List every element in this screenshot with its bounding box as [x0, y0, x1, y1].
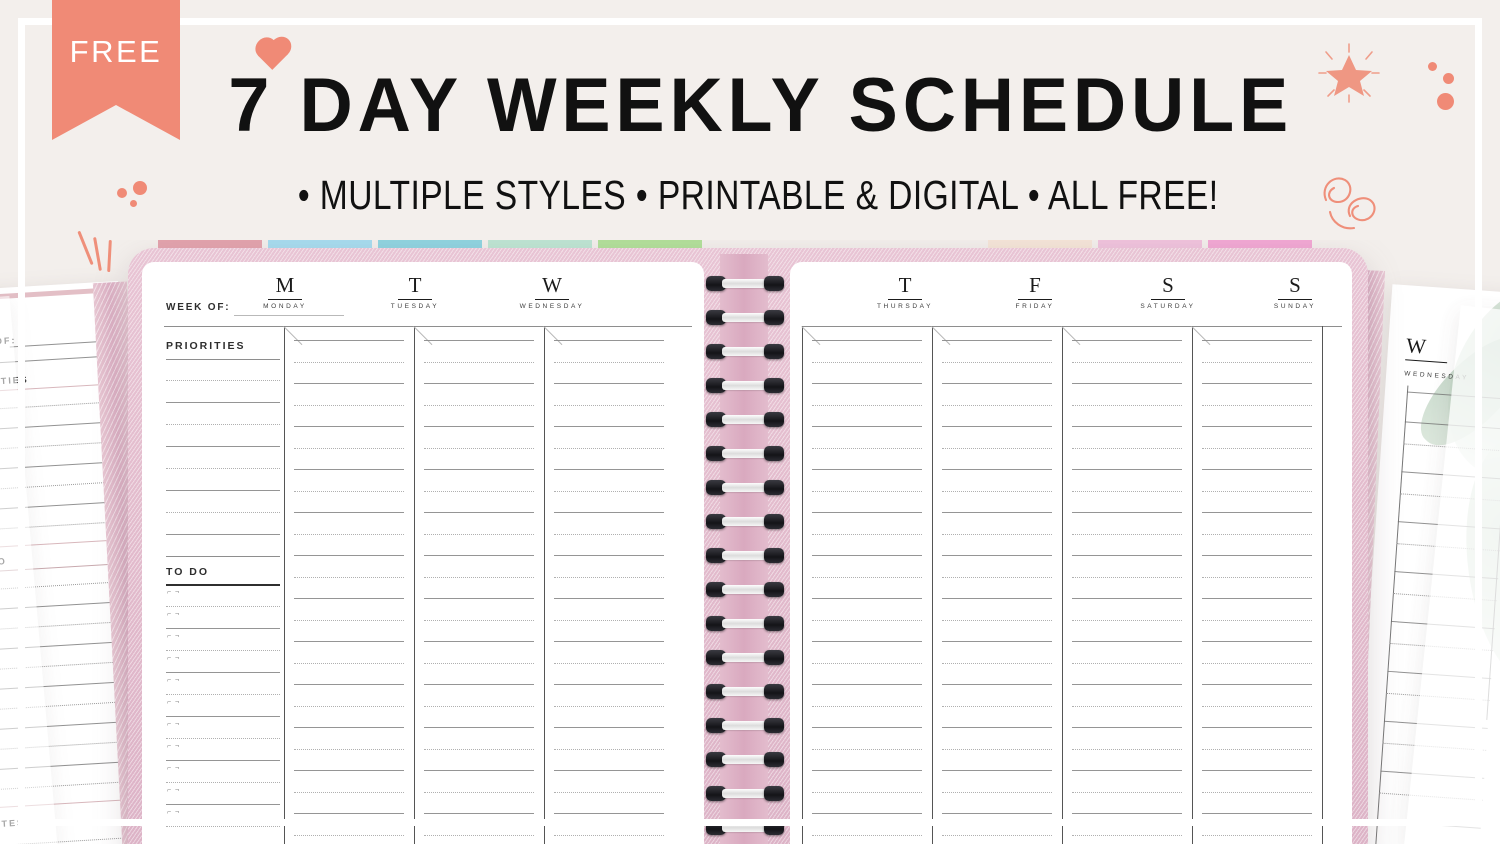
monday-line[interactable]	[294, 663, 404, 664]
tuesday-line[interactable]	[424, 663, 534, 664]
wednesday-line[interactable]	[554, 835, 664, 836]
monday-line[interactable]	[294, 555, 404, 556]
priorities-line[interactable]	[166, 380, 280, 381]
spiral-coil	[706, 514, 784, 529]
monday-line[interactable]	[294, 792, 404, 793]
tuesday-line[interactable]	[424, 340, 534, 341]
todo-line[interactable]	[166, 694, 280, 695]
tuesday-line[interactable]	[424, 362, 534, 363]
spiral-coil	[706, 378, 784, 393]
todo-line[interactable]	[166, 716, 280, 717]
tuesday-line[interactable]	[424, 491, 534, 492]
friday-line[interactable]	[942, 620, 1052, 621]
sunday-line[interactable]	[1202, 362, 1312, 363]
column-divider-2	[414, 326, 415, 844]
day-initial-monday: M	[242, 275, 328, 296]
wednesday-line[interactable]	[554, 426, 664, 427]
day-name-friday: FRIDAY	[992, 303, 1078, 310]
planner-page-right: T THURSDAY F FRIDAY S SATURDAY S SUNDAY	[790, 262, 1352, 844]
column-divider-4	[802, 326, 803, 844]
todo-checkbox[interactable]: ⌐ ¬	[167, 655, 180, 662]
free-badge-label: FREE	[70, 34, 163, 70]
saturday-line[interactable]	[1072, 835, 1182, 836]
todo-checkbox[interactable]: ⌐ ¬	[167, 611, 180, 618]
thursday-line[interactable]	[812, 792, 922, 793]
friday-line[interactable]	[942, 706, 1052, 707]
spiral-coil	[706, 480, 784, 495]
planner-book: WEEK OF: M MONDAY T TUESDAY W WEDNESDAY	[128, 248, 1368, 844]
todo-checkbox[interactable]: ⌐ ¬	[167, 633, 180, 640]
corner-fold-6	[1044, 326, 1081, 363]
saturday-line[interactable]	[1072, 405, 1182, 406]
sunday-line[interactable]	[1202, 641, 1312, 642]
thursday-line[interactable]	[812, 469, 922, 470]
corner-fold-2	[396, 326, 433, 363]
monday-line[interactable]	[294, 448, 404, 449]
tuesday-line[interactable]	[424, 383, 534, 384]
wednesday-line[interactable]	[554, 491, 664, 492]
day-initial-friday: F	[992, 275, 1078, 296]
tuesday-line[interactable]	[424, 512, 534, 513]
friday-line[interactable]	[942, 512, 1052, 513]
friday-line[interactable]	[942, 727, 1052, 728]
wednesday-line[interactable]	[554, 469, 664, 470]
tuesday-line[interactable]	[424, 405, 534, 406]
day-header-sunday: S SUNDAY	[1252, 275, 1338, 310]
monday-line[interactable]	[294, 405, 404, 406]
tuesday-line[interactable]	[424, 426, 534, 427]
spiral-coil	[706, 820, 784, 835]
todo-underline	[166, 584, 280, 586]
saturday-line[interactable]	[1072, 792, 1182, 793]
corner-fold-7	[1174, 326, 1211, 363]
tuesday-line[interactable]	[424, 448, 534, 449]
sunday-line[interactable]	[1202, 426, 1312, 427]
column-divider-7	[1192, 326, 1193, 844]
wednesday-line[interactable]	[554, 770, 664, 771]
tuesday-line[interactable]	[424, 577, 534, 578]
tuesday-line[interactable]	[424, 684, 534, 685]
column-divider-3	[544, 326, 545, 844]
day-initial-sunday: S	[1252, 275, 1338, 296]
todo-checkbox[interactable]: ⌐ ¬	[167, 809, 180, 816]
bg-right-day-initial: W	[1405, 333, 1426, 358]
sunday-line[interactable]	[1202, 340, 1312, 341]
corner-fold-4	[790, 326, 820, 363]
tuesday-line[interactable]	[424, 792, 534, 793]
wednesday-line[interactable]	[554, 684, 664, 685]
monday-line[interactable]	[294, 512, 404, 513]
saturday-line[interactable]	[1072, 770, 1182, 771]
todo-checkbox[interactable]: ⌐ ¬	[167, 787, 180, 794]
dash-line-2	[93, 237, 101, 271]
day-header-saturday: S SATURDAY	[1122, 275, 1214, 310]
spiral-coil	[706, 752, 784, 767]
saturday-line[interactable]	[1072, 426, 1182, 427]
friday-line[interactable]	[942, 749, 1052, 750]
sunday-line[interactable]	[1202, 706, 1312, 707]
spiral-coil	[706, 412, 784, 427]
sunday-line[interactable]	[1202, 749, 1312, 750]
corner-fold-5	[914, 326, 951, 363]
friday-line[interactable]	[942, 534, 1052, 535]
todo-line[interactable]	[166, 672, 280, 673]
spiral-coil	[706, 718, 784, 733]
monday-line[interactable]	[294, 469, 404, 470]
day-name-monday: MONDAY	[242, 303, 328, 310]
monday-line[interactable]	[294, 727, 404, 728]
wednesday-line[interactable]	[554, 362, 664, 363]
day-header-wednesday: W WEDNESDAY	[502, 275, 602, 310]
saturday-line[interactable]	[1072, 555, 1182, 556]
monday-line[interactable]	[294, 577, 404, 578]
todo-line[interactable]	[166, 782, 280, 783]
friday-line[interactable]	[942, 383, 1052, 384]
day-name-sunday: SUNDAY	[1252, 303, 1338, 310]
sunday-line[interactable]	[1202, 620, 1312, 621]
todo-line[interactable]	[166, 606, 280, 607]
day-initial-tuesday: T	[372, 275, 458, 296]
sunday-line[interactable]	[1202, 792, 1312, 793]
tuesday-line[interactable]	[424, 641, 534, 642]
dot-large-right	[1437, 93, 1454, 110]
monday-line[interactable]	[294, 362, 404, 363]
saturday-line[interactable]	[1072, 641, 1182, 642]
sunday-line[interactable]	[1202, 770, 1312, 771]
sunday-line[interactable]	[1202, 405, 1312, 406]
sunday-line[interactable]	[1202, 727, 1312, 728]
tuesday-line[interactable]	[424, 534, 534, 535]
day-initial-thursday: T	[862, 275, 948, 296]
corner-fold-3	[526, 326, 563, 363]
tuesday-line[interactable]	[424, 469, 534, 470]
todo-line[interactable]	[166, 826, 280, 827]
saturday-line[interactable]	[1072, 577, 1182, 578]
day-name-wednesday: WEDNESDAY	[502, 303, 602, 310]
priorities-line[interactable]	[166, 468, 280, 469]
monday-line[interactable]	[294, 491, 404, 492]
monday-line[interactable]	[294, 598, 404, 599]
column-divider-1	[284, 326, 285, 844]
thursday-line[interactable]	[812, 749, 922, 750]
dot-small-right	[1428, 62, 1437, 71]
saturday-line[interactable]	[1072, 534, 1182, 535]
friday-line[interactable]	[942, 448, 1052, 449]
priorities-underline	[166, 359, 280, 360]
saturday-line[interactable]	[1072, 383, 1182, 384]
monday-line[interactable]	[294, 620, 404, 621]
poster-canvas: WEEK OF: PRIORITIES TO DO NOTES	[0, 0, 1500, 844]
dash-line-1	[77, 231, 93, 265]
todo-line[interactable]	[166, 650, 280, 651]
day-initial-saturday: S	[1122, 275, 1214, 296]
monday-line[interactable]	[294, 383, 404, 384]
spiral-coil	[706, 276, 784, 291]
monday-line[interactable]	[294, 770, 404, 771]
saturday-line[interactable]	[1072, 620, 1182, 621]
poster-header: 7 DAY WEEKLY SCHEDULE • MULTIPLE STYLES …	[0, 0, 1500, 240]
saturday-line[interactable]	[1072, 448, 1182, 449]
day-initial-wednesday: W	[502, 275, 602, 296]
tuesday-line[interactable]	[424, 835, 534, 836]
todo-checkbox[interactable]: ⌐ ¬	[167, 699, 180, 706]
wednesday-line[interactable]	[554, 727, 664, 728]
spiral-coil	[706, 582, 784, 597]
saturday-line[interactable]	[1072, 362, 1182, 363]
day-name-saturday: SATURDAY	[1122, 303, 1214, 310]
todo-line[interactable]	[166, 628, 280, 629]
thursday-line[interactable]	[812, 534, 922, 535]
friday-line[interactable]	[942, 835, 1052, 836]
column-divider-8	[1322, 326, 1323, 844]
friday-line[interactable]	[942, 405, 1052, 406]
priorities-line[interactable]	[166, 490, 280, 491]
thursday-line[interactable]	[812, 491, 922, 492]
priorities-line[interactable]	[166, 402, 280, 403]
priorities-label: PRIORITIES	[166, 340, 246, 352]
friday-line[interactable]	[942, 362, 1052, 363]
header-divider-right	[802, 326, 1342, 327]
todo-checkbox[interactable]: ⌐ ¬	[167, 743, 180, 750]
thursday-line[interactable]	[812, 684, 922, 685]
wednesday-line[interactable]	[554, 706, 664, 707]
thursday-line[interactable]	[812, 512, 922, 513]
sunday-line[interactable]	[1202, 663, 1312, 664]
priorities-line[interactable]	[166, 446, 280, 447]
saturday-line[interactable]	[1072, 663, 1182, 664]
monday-line[interactable]	[294, 534, 404, 535]
saturday-line[interactable]	[1072, 813, 1182, 814]
day-header-tuesday: T TUESDAY	[372, 275, 458, 310]
corner-fold-1	[266, 326, 303, 363]
tuesday-line[interactable]	[424, 770, 534, 771]
spiral-coil	[706, 616, 784, 631]
tuesday-line[interactable]	[424, 620, 534, 621]
column-divider-6	[1062, 326, 1063, 844]
monday-line[interactable]	[294, 340, 404, 341]
page-subtitle: • MULTIPLE STYLES • PRINTABLE & DIGITAL …	[135, 172, 1365, 219]
sunday-line[interactable]	[1202, 684, 1312, 685]
tuesday-line[interactable]	[424, 727, 534, 728]
page-title: 7 DAY WEEKLY SCHEDULE	[23, 62, 1478, 149]
sunday-line[interactable]	[1202, 534, 1312, 535]
day-name-tuesday: TUESDAY	[372, 303, 458, 310]
thursday-line[interactable]	[812, 641, 922, 642]
spiral-coil	[706, 548, 784, 563]
wednesday-line[interactable]	[554, 792, 664, 793]
wednesday-line[interactable]	[554, 813, 664, 814]
priorities-line[interactable]	[166, 534, 280, 535]
friday-line[interactable]	[942, 792, 1052, 793]
sunday-line[interactable]	[1202, 491, 1312, 492]
priorities-line[interactable]	[166, 424, 280, 425]
friday-line[interactable]	[942, 641, 1052, 642]
saturday-line[interactable]	[1072, 340, 1182, 341]
wednesday-line[interactable]	[554, 405, 664, 406]
spiral-coil	[706, 310, 784, 325]
thursday-line[interactable]	[812, 577, 922, 578]
week-of-input-line[interactable]	[234, 315, 344, 316]
friday-line[interactable]	[942, 684, 1052, 685]
todo-line[interactable]	[166, 760, 280, 761]
wednesday-line[interactable]	[554, 534, 664, 535]
todo-checkbox[interactable]: ⌐ ¬	[167, 677, 180, 684]
column-divider-5	[932, 326, 933, 844]
wednesday-line[interactable]	[554, 577, 664, 578]
monday-line[interactable]	[294, 706, 404, 707]
spiral-coil	[706, 344, 784, 359]
dot-small-left	[117, 188, 127, 198]
wednesday-line[interactable]	[554, 340, 664, 341]
tuesday-line[interactable]	[424, 749, 534, 750]
dash-line-3	[107, 240, 111, 272]
wednesday-line[interactable]	[554, 663, 664, 664]
saturday-line[interactable]	[1072, 684, 1182, 685]
thursday-line[interactable]	[812, 727, 922, 728]
monday-line[interactable]	[294, 684, 404, 685]
sunday-line[interactable]	[1202, 469, 1312, 470]
dot-mid-right	[1443, 73, 1454, 84]
sunday-line[interactable]	[1202, 512, 1312, 513]
friday-line[interactable]	[942, 555, 1052, 556]
todo-line[interactable]	[166, 804, 280, 805]
saturday-line[interactable]	[1072, 749, 1182, 750]
planner-page-left: WEEK OF: M MONDAY T TUESDAY W WEDNESDAY	[142, 262, 704, 844]
friday-line[interactable]	[942, 340, 1052, 341]
todo-checkbox[interactable]: ⌐ ¬	[167, 765, 180, 772]
thursday-line[interactable]	[812, 770, 922, 771]
header-divider-left	[164, 326, 692, 327]
monday-line[interactable]	[294, 835, 404, 836]
wednesday-line[interactable]	[554, 448, 664, 449]
day-name-thursday: THURSDAY	[862, 303, 948, 310]
thursday-line[interactable]	[812, 813, 922, 814]
thursday-line[interactable]	[812, 706, 922, 707]
saturday-line[interactable]	[1072, 512, 1182, 513]
sunday-line[interactable]	[1202, 835, 1312, 836]
sunday-line[interactable]	[1202, 813, 1312, 814]
thursday-line[interactable]	[812, 835, 922, 836]
friday-line[interactable]	[942, 491, 1052, 492]
thursday-line[interactable]	[812, 362, 922, 363]
tuesday-line[interactable]	[424, 813, 534, 814]
todo-top-rule	[166, 556, 280, 557]
thursday-line[interactable]	[812, 620, 922, 621]
todo-checkbox[interactable]: ⌐ ¬	[167, 589, 180, 596]
monday-line[interactable]	[294, 813, 404, 814]
day-header-thursday: T THURSDAY	[862, 275, 948, 310]
thursday-line[interactable]	[812, 426, 922, 427]
friday-line[interactable]	[942, 577, 1052, 578]
thursday-line[interactable]	[812, 663, 922, 664]
tuesday-line[interactable]	[424, 706, 534, 707]
sunday-line[interactable]	[1202, 598, 1312, 599]
friday-line[interactable]	[942, 663, 1052, 664]
sunday-line[interactable]	[1202, 577, 1312, 578]
monday-line[interactable]	[294, 641, 404, 642]
dot-tiny-left	[130, 200, 137, 207]
spiral-coil	[706, 786, 784, 801]
wednesday-line[interactable]	[554, 555, 664, 556]
friday-line[interactable]	[942, 770, 1052, 771]
friday-line[interactable]	[942, 813, 1052, 814]
friday-line[interactable]	[942, 426, 1052, 427]
sunday-line[interactable]	[1202, 383, 1312, 384]
sunday-line[interactable]	[1202, 448, 1312, 449]
friday-line[interactable]	[942, 469, 1052, 470]
spiral-coil	[706, 446, 784, 461]
thursday-line[interactable]	[812, 598, 922, 599]
todo-checkbox[interactable]: ⌐ ¬	[167, 721, 180, 728]
todo-line[interactable]	[166, 738, 280, 739]
spiral-squiggle-icon	[1310, 160, 1396, 246]
thursday-line[interactable]	[812, 448, 922, 449]
spiral-coil	[706, 650, 784, 665]
week-of-label: WEEK OF:	[166, 302, 230, 313]
dot-large-left	[133, 181, 147, 195]
todo-label: TO DO	[166, 566, 209, 578]
saturday-line[interactable]	[1072, 706, 1182, 707]
spiral-coil	[706, 684, 784, 699]
day-header-friday: F FRIDAY	[992, 275, 1078, 310]
thursday-line[interactable]	[812, 555, 922, 556]
monday-line[interactable]	[294, 749, 404, 750]
wednesday-line[interactable]	[554, 620, 664, 621]
wednesday-line[interactable]	[554, 749, 664, 750]
tuesday-line[interactable]	[424, 555, 534, 556]
monday-line[interactable]	[294, 426, 404, 427]
wednesday-line[interactable]	[554, 512, 664, 513]
priorities-line[interactable]	[166, 512, 280, 513]
day-header-monday: M MONDAY	[242, 275, 328, 310]
thursday-line[interactable]	[812, 340, 922, 341]
saturday-line[interactable]	[1072, 469, 1182, 470]
tuesday-line[interactable]	[424, 598, 534, 599]
thursday-line[interactable]	[812, 405, 922, 406]
saturday-line[interactable]	[1072, 598, 1182, 599]
friday-line[interactable]	[942, 598, 1052, 599]
sunday-line[interactable]	[1202, 555, 1312, 556]
wednesday-line[interactable]	[554, 641, 664, 642]
wednesday-line[interactable]	[554, 383, 664, 384]
wednesday-line[interactable]	[554, 598, 664, 599]
star-sparkle-icon	[1316, 42, 1382, 106]
thursday-line[interactable]	[812, 383, 922, 384]
saturday-line[interactable]	[1072, 491, 1182, 492]
saturday-line[interactable]	[1072, 727, 1182, 728]
